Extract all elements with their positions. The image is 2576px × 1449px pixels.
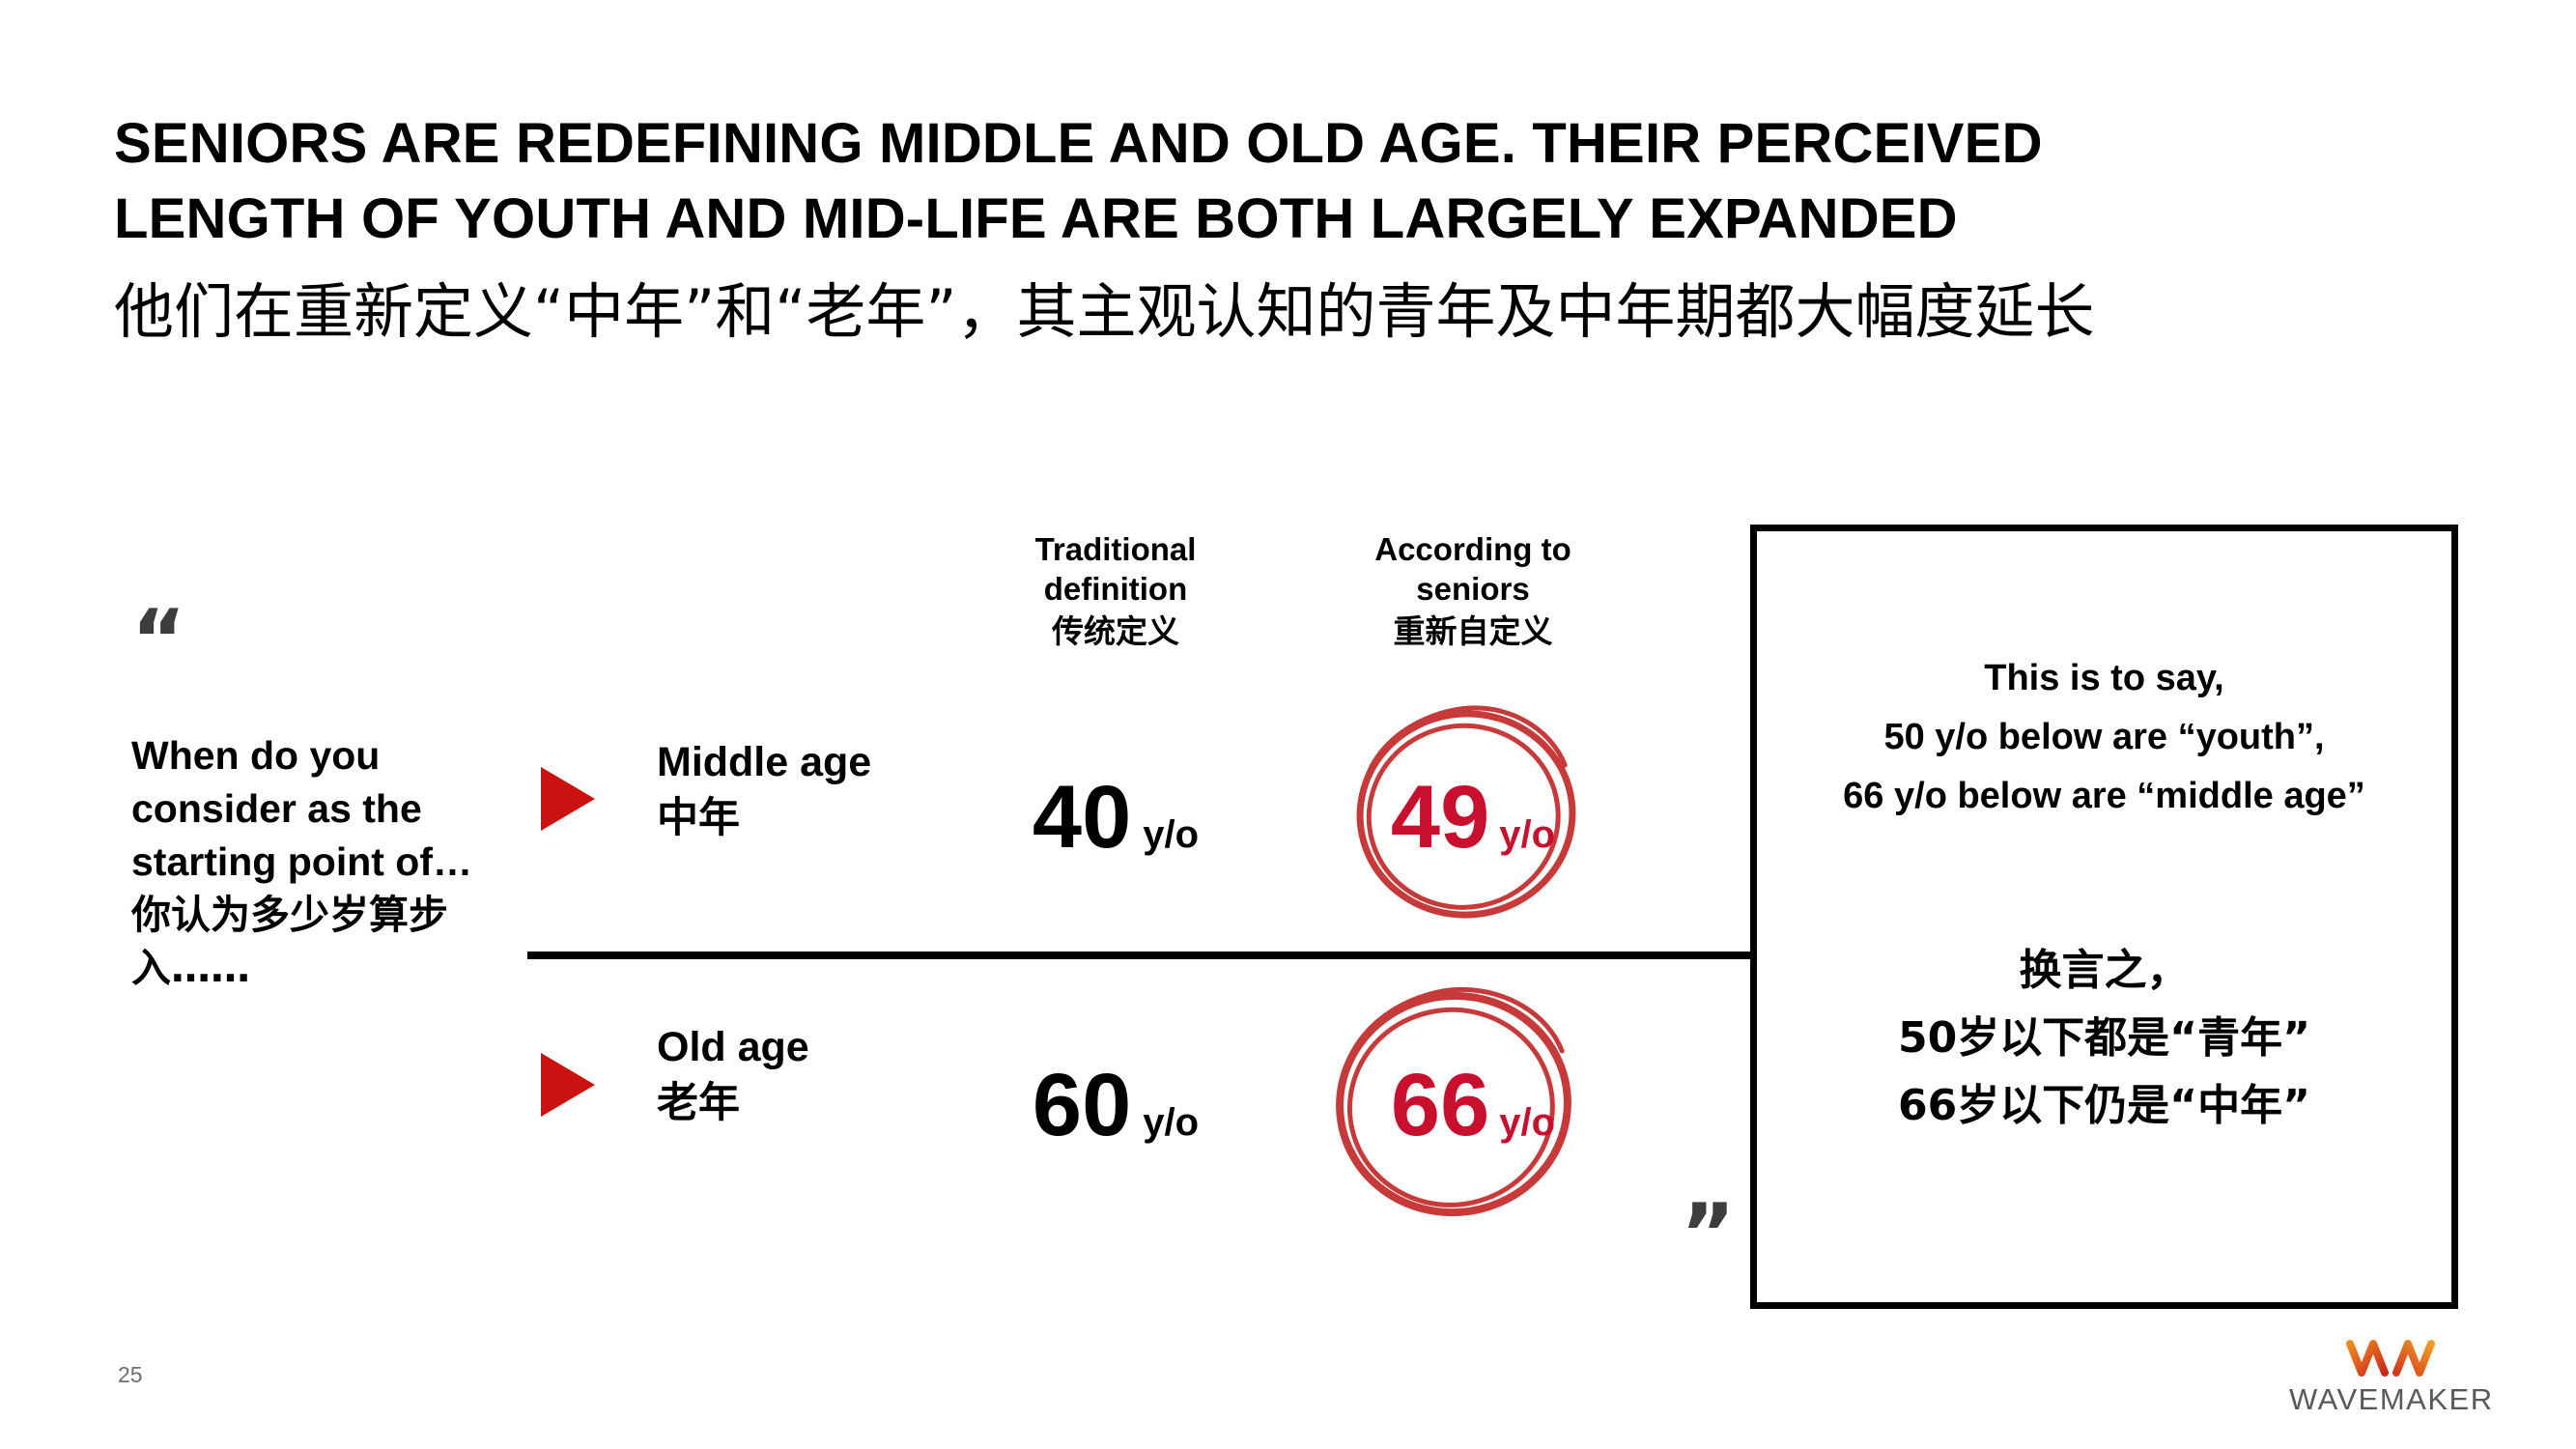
column-header-traditional-line1: Traditional: [966, 529, 1265, 569]
page-title: SENIORS ARE REDEFINING MIDDLE AND OLD AG…: [114, 106, 2432, 257]
quote-open-mark: “: [131, 599, 183, 682]
callout-en-line1: This is to say,: [1757, 649, 2451, 708]
quote-text-block: When do you consider as the starting poi…: [131, 729, 518, 995]
callout-cn-line2: 50岁以下都是“青年”: [1757, 1005, 2451, 1072]
senior-value-middle-age: 49y/o: [1323, 773, 1623, 862]
brand-logo: WAVEMAKER: [2289, 1338, 2492, 1417]
senior-value-old-age: 66y/o: [1323, 1061, 1623, 1150]
quote-text-chinese: 你认为多少岁算步入……: [131, 889, 518, 995]
wm-monogram-icon: [2344, 1338, 2437, 1378]
row-label-middle-age-english: Middle age: [657, 739, 871, 785]
slide-canvas: SENIORS ARE REDEFINING MIDDLE AND OLD AG…: [0, 0, 2576, 1449]
subtitle-chinese: 他们在重新定义“中年”和“老年”，其主观认知的青年及中年期都大幅度延长: [114, 272, 2432, 352]
callout-en-line3: 66 y/o below are “middle age”: [1757, 767, 2451, 826]
quote-text-english: When do you consider as the starting poi…: [131, 729, 518, 889]
triangle-bullet-icon: [541, 1053, 595, 1117]
callout-cn-line3: 66岁以下仍是“中年”: [1757, 1072, 2451, 1140]
traditional-value-middle-age: 40y/o: [966, 773, 1265, 862]
column-header-traditional: Traditional definition 传统定义: [966, 529, 1265, 655]
triangle-bullet-icon: [541, 767, 595, 831]
callout-english-text: This is to say, 50 y/o below are “youth”…: [1757, 649, 2451, 826]
column-header-traditional-line2: definition: [966, 569, 1265, 609]
traditional-unit-middle-age: y/o: [1143, 813, 1199, 856]
callout-chinese-text: 换言之， 50岁以下都是“青年” 66岁以下仍是“中年”: [1757, 937, 2451, 1140]
row-divider: [527, 952, 1760, 959]
senior-number-old-age: 66: [1391, 1056, 1489, 1154]
column-header-seniors-line2: seniors: [1323, 569, 1623, 609]
senior-number-middle-age: 49: [1391, 768, 1489, 867]
row-label-old-age-chinese: 老年: [657, 1075, 809, 1131]
traditional-number-middle-age: 40: [1033, 768, 1131, 867]
callout-box: This is to say, 50 y/o below are “youth”…: [1750, 525, 2458, 1309]
senior-unit-old-age: y/o: [1499, 1101, 1555, 1144]
senior-unit-middle-age: y/o: [1499, 813, 1555, 856]
row-label-middle-age: Middle age 中年: [657, 734, 871, 846]
page-number: 25: [118, 1362, 143, 1388]
row-label-old-age-english: Old age: [657, 1024, 809, 1070]
callout-en-line2: 50 y/o below are “youth”,: [1757, 708, 2451, 767]
column-header-traditional-chinese: 传统定义: [966, 609, 1265, 655]
title-line-2: LENGTH OF YOUTH AND MID-LIFE ARE BOTH LA…: [114, 182, 2432, 257]
callout-cn-line1: 换言之，: [1757, 937, 2451, 1005]
column-header-seniors: According to seniors 重新自定义: [1323, 529, 1623, 655]
quote-close-mark: ”: [1681, 1193, 1732, 1276]
traditional-value-old-age: 60y/o: [966, 1061, 1265, 1150]
traditional-number-old-age: 60: [1033, 1056, 1131, 1154]
title-line-1: SENIORS ARE REDEFINING MIDDLE AND OLD AG…: [114, 106, 2432, 182]
row-label-middle-age-chinese: 中年: [657, 790, 871, 846]
column-header-seniors-line1: According to: [1323, 529, 1623, 569]
traditional-unit-old-age: y/o: [1143, 1101, 1199, 1144]
column-header-seniors-chinese: 重新自定义: [1323, 609, 1623, 655]
row-label-old-age: Old age 老年: [657, 1019, 809, 1131]
brand-name: WAVEMAKER: [2289, 1382, 2492, 1417]
